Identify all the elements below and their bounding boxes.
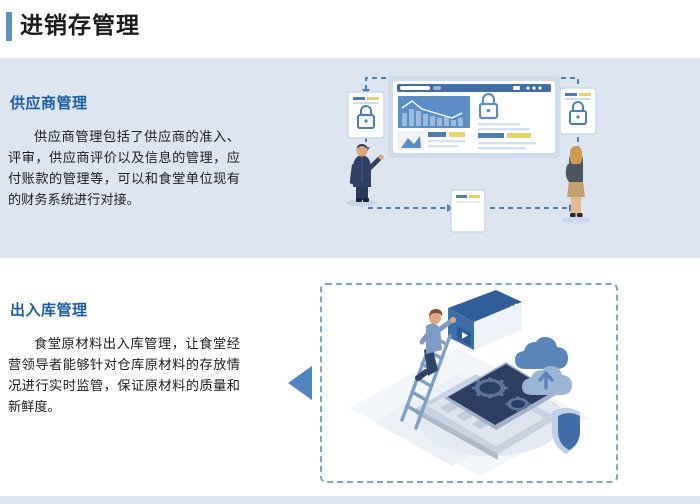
section-body-inventory: 食堂原材料出入库管理，让食堂经营领导者能够针对仓库原材料的存放情况进行实时监管，…: [8, 334, 240, 418]
page-root: 进销存管理 供应商管理 供应商管理包括了供应商的准入、评审，供应商评价以及信息的…: [0, 0, 700, 504]
laptop-maintenance-isometric-illustration: [340, 290, 600, 476]
document-card-lock-left: [348, 92, 384, 138]
shield-icon: [552, 408, 580, 454]
footer-strip: [0, 496, 700, 504]
businessman-figure: [346, 144, 384, 207]
data-exchange-dashboard-illustration: [320, 68, 620, 238]
document-card-bottom: [451, 190, 485, 232]
floating-media-window: [448, 290, 522, 350]
section-heading-supplier: 供应商管理: [10, 92, 88, 113]
inventory-illustration-wrap: [280, 278, 650, 490]
document-card-lock-right: [560, 88, 596, 134]
bar-line-chart: [398, 96, 470, 128]
browser-dashboard-window: [388, 76, 560, 158]
title-accent-bar: [6, 12, 12, 41]
businesswoman-figure: [562, 146, 590, 223]
pointer-triangle-icon: [288, 366, 312, 400]
page-header: 进销存管理: [0, 0, 700, 58]
page-title: 进销存管理: [20, 9, 140, 43]
section-body-supplier: 供应商管理包括了供应商的准入、评审，供应商评价以及信息的管理，应付账款的管理等，…: [8, 127, 240, 211]
cloud-upload-icon: [515, 337, 572, 395]
section-heading-inventory: 出入库管理: [10, 299, 88, 320]
